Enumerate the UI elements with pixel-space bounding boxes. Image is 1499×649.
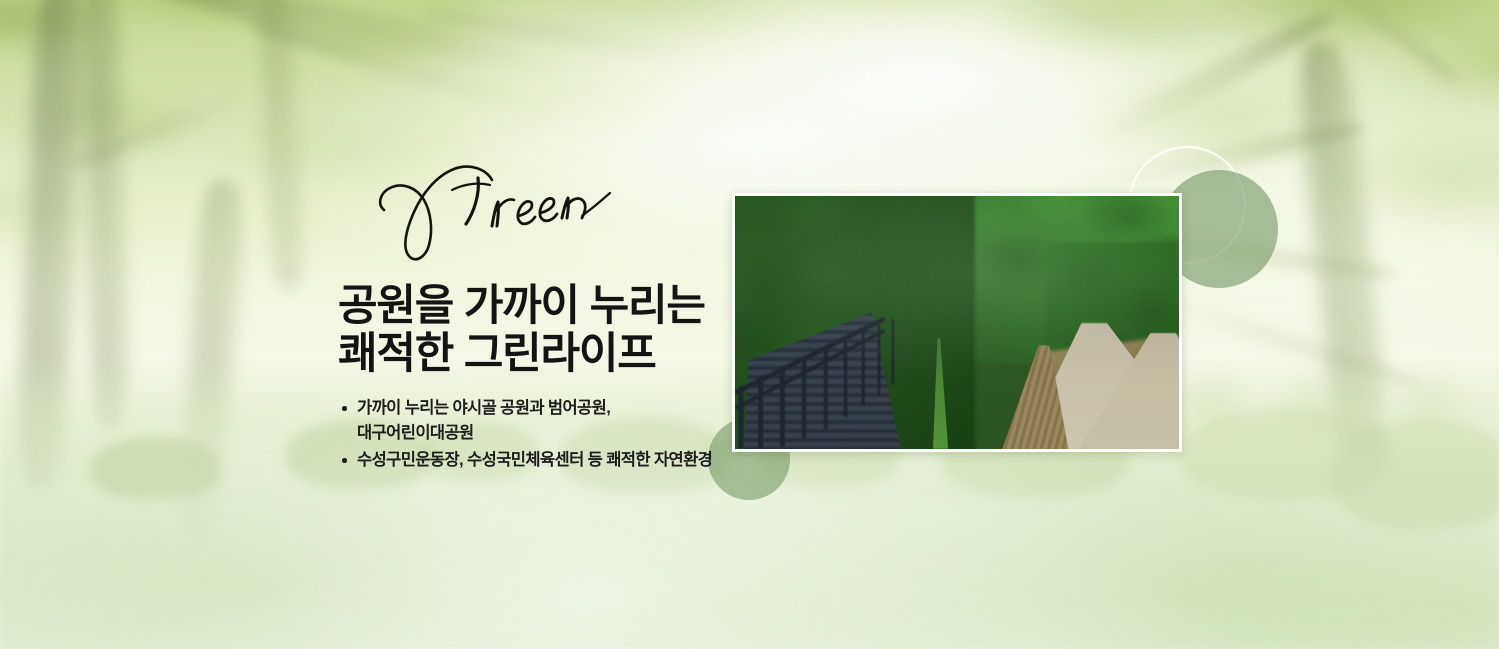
list-item: 수성구민운동장, 수성국민체육센터 등 쾌적한 자연환경: [338, 448, 758, 473]
page-title: 공원을 가까이 누리는 쾌적한 그린라이프: [338, 282, 758, 378]
park-trail-photo: [735, 196, 1179, 449]
feature-list: 가까이 누리는 야시골 공원과 범어공원, 대구어린이대공원 수성구민운동장, …: [338, 396, 758, 473]
green-life-banner: 공원을 가까이 누리는 쾌적한 그린라이프 가까이 누리는 야시골 공원과 범어…: [0, 0, 1499, 649]
banner-copy-block: 공원을 가까이 누리는 쾌적한 그린라이프 가까이 누리는 야시골 공원과 범어…: [338, 160, 758, 475]
park-trail-photo-frame: [732, 193, 1182, 452]
shrub-icon: [90, 437, 220, 499]
green-script-wordmark: [374, 160, 758, 268]
photo-handrail: [735, 302, 966, 449]
shrub-icon: [1330, 419, 1499, 529]
list-item: 가까이 누리는 야시골 공원과 범어공원, 대구어린이대공원: [338, 396, 758, 446]
